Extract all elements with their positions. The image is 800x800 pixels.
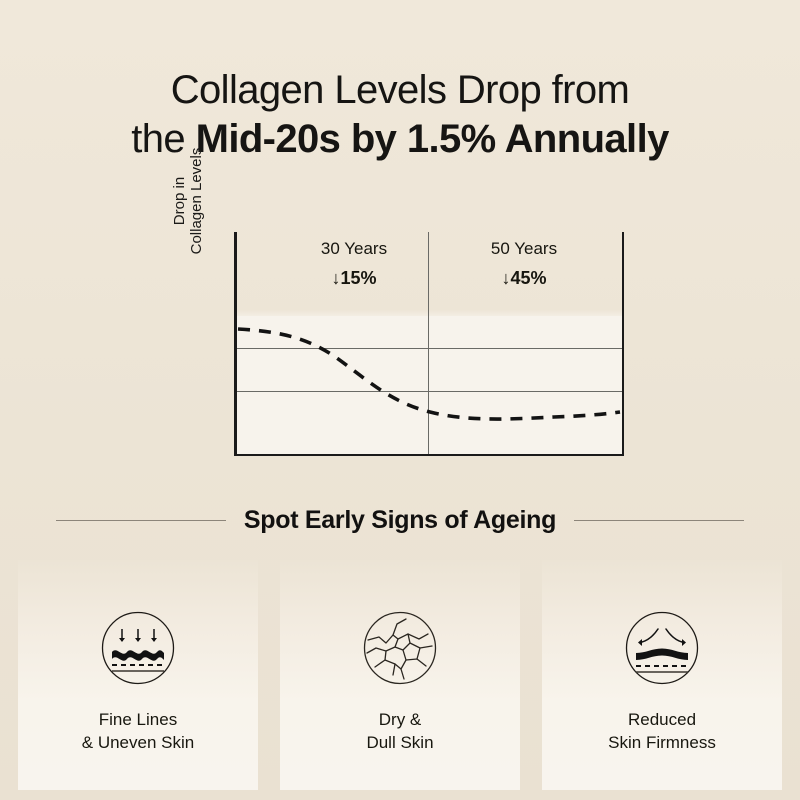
card-label-line-1: Reduced [608, 708, 716, 731]
section-heading-row: Spot Early Signs of Ageing [0, 506, 800, 535]
divider-left [56, 520, 226, 521]
segment-drop-30: ↓15% [274, 266, 434, 290]
segment-drop-value-30: 15% [340, 268, 376, 288]
chart-wrapper: Drop in Collagen Levels 30 Years ↓15% [175, 228, 635, 463]
card-label-line-2: & Uneven Skin [82, 731, 194, 754]
segment-years-50: 50 Years [444, 238, 604, 261]
signs-card-row: Fine Lines & Uneven Skin [18, 560, 782, 790]
segment-drop-value-50: 45% [510, 268, 546, 288]
card-label-line-1: Dry & [366, 708, 433, 731]
card-label-dry-dull-skin: Dry & Dull Skin [366, 708, 433, 755]
segment-label-50-years: 50 Years ↓45% [444, 238, 604, 290]
reduced-firmness-icon [624, 610, 700, 686]
chart-y-axis-label: Drop in Collagen Levels [171, 126, 206, 276]
y-axis-label-line-1: Drop in [171, 126, 188, 276]
card-label-line-2: Skin Firmness [608, 731, 716, 754]
divider-right [574, 520, 744, 521]
card-label-line-1: Fine Lines [82, 708, 194, 731]
segment-drop-50: ↓45% [444, 266, 604, 290]
card-reduced-firmness[interactable]: Reduced Skin Firmness [542, 560, 782, 790]
infographic-page: Collagen Levels Drop from the Mid-20s by… [0, 0, 800, 800]
section-heading: Spot Early Signs of Ageing [244, 506, 556, 535]
card-dry-dull-skin[interactable]: Dry & Dull Skin [280, 560, 520, 790]
card-label-line-2: Dull Skin [366, 731, 433, 754]
segment-label-30-years: 30 Years ↓15% [274, 238, 434, 290]
card-label-reduced-firmness: Reduced Skin Firmness [608, 708, 716, 755]
segment-years-30: 30 Years [274, 238, 434, 261]
chart-plot-area: 30 Years ↓15% 50 Years ↓45% [234, 232, 624, 456]
card-fine-lines[interactable]: Fine Lines & Uneven Skin [18, 560, 258, 790]
y-axis-label-line-2: Collagen Levels [188, 126, 205, 276]
card-label-fine-lines: Fine Lines & Uneven Skin [82, 708, 194, 755]
fine-lines-icon [100, 610, 176, 686]
dry-dull-skin-icon [362, 610, 438, 686]
